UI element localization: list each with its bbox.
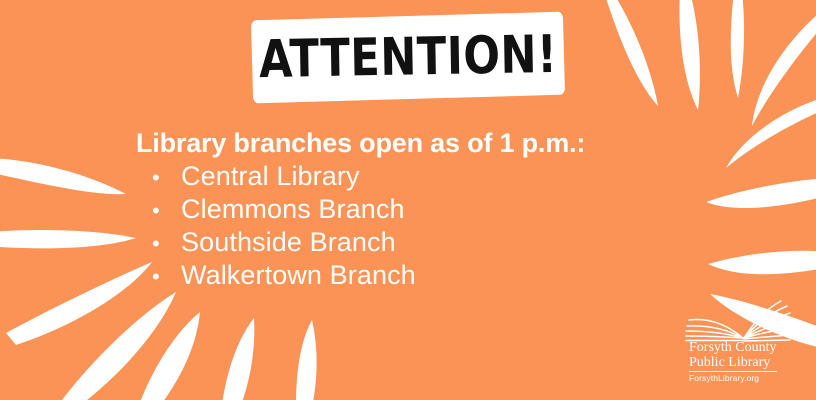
- ray-icon: [752, 14, 816, 126]
- open-book-icon: [684, 300, 792, 344]
- logo-divider: [689, 371, 777, 372]
- library-logo: Forsyth County Public Library ForsythLib…: [684, 300, 792, 386]
- list-item: • Central Library: [152, 163, 416, 196]
- branch-name: Southside Branch: [181, 229, 396, 256]
- list-item: • Walkertown Branch: [152, 262, 416, 295]
- open-branches-list: • Central Library • Clemmons Branch • So…: [152, 163, 416, 295]
- page-title: Library branches open as of 1 p.m.:: [136, 128, 585, 159]
- logo-name-line1: Forsyth County: [689, 340, 777, 355]
- ray-icon: [62, 292, 176, 400]
- branch-name: Central Library: [181, 163, 360, 190]
- attention-banner: ATTENTION!: [251, 12, 565, 104]
- ray-icon: [140, 312, 200, 400]
- ray-icon: [296, 320, 317, 400]
- bullet-icon: •: [152, 200, 181, 222]
- ray-icon: [726, 98, 816, 168]
- logo-url: ForsythLibrary.org: [689, 373, 759, 384]
- logo-name: Forsyth County Public Library: [689, 340, 777, 370]
- attention-banner-label: ATTENTION!: [258, 29, 557, 86]
- ray-icon: [6, 262, 152, 345]
- announcement-poster: ATTENTION! Library branches open as of 1…: [0, 0, 816, 400]
- bullet-icon: •: [152, 233, 181, 255]
- ray-icon: [604, 0, 658, 106]
- bullet-icon: •: [152, 266, 181, 288]
- list-item: • Clemmons Branch: [152, 196, 416, 229]
- ray-icon: [680, 0, 700, 110]
- ray-icon: [708, 251, 816, 275]
- branch-name: Walkertown Branch: [181, 262, 416, 289]
- bullet-icon: •: [152, 167, 181, 189]
- list-item: • Southside Branch: [152, 229, 416, 262]
- branch-name: Clemmons Branch: [181, 196, 405, 223]
- ray-icon: [0, 158, 126, 194]
- ray-icon: [0, 230, 136, 248]
- ray-icon: [222, 318, 254, 400]
- ray-icon: [706, 178, 816, 208]
- ray-icon: [731, 0, 744, 98]
- logo-name-line2: Public Library: [689, 355, 777, 370]
